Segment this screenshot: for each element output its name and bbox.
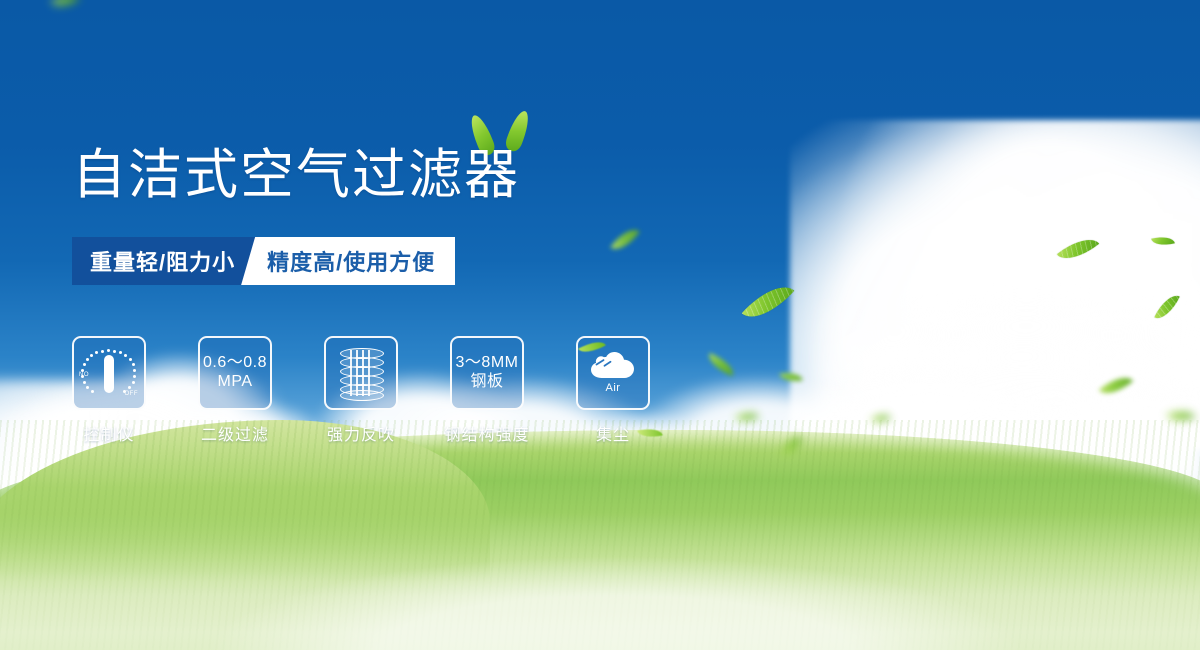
subtitle-bar: 重量轻/阻力小 精度高/使用方便 xyxy=(72,237,455,285)
feature-item[interactable]: 0.6～0.8 MPA 二级过滤 xyxy=(198,336,272,445)
air-label: Air xyxy=(606,382,621,394)
steel-plate-text-icon: 3～8MM 钢板 xyxy=(456,354,519,392)
gauge-needle-icon xyxy=(104,355,114,393)
feature-icon-box: NO OFF xyxy=(72,336,146,410)
product-hero-banner: 自洁式空气过滤器 重量轻/阻力小 精度高/使用方便 xyxy=(0,0,1200,650)
feature-icon-line1: 0.6～0.8 xyxy=(203,354,267,373)
pressure-text-icon: 0.6～0.8 MPA xyxy=(203,354,267,392)
feature-label: 强力反吹 xyxy=(327,421,395,445)
feature-label: 集尘 xyxy=(596,421,630,445)
feature-item[interactable]: Air 集尘 xyxy=(576,336,650,445)
feature-icon-box: 3～8MM 钢板 xyxy=(450,336,524,410)
cloud-shape-icon xyxy=(587,352,639,380)
feature-label: 钢结构强度 xyxy=(445,421,530,445)
feature-icon-line1: 3～8MM xyxy=(456,354,519,373)
coil-filter-icon xyxy=(340,347,382,399)
air-cloud-icon: Air xyxy=(585,350,641,396)
gauge-off-label: OFF xyxy=(125,391,139,397)
feature-item[interactable]: 3～8MM 钢板 钢结构强度 xyxy=(450,336,524,445)
feature-icon-box xyxy=(324,336,398,410)
gauge-icon: NO OFF xyxy=(80,347,138,399)
feature-icon-box: 0.6～0.8 MPA xyxy=(198,336,272,410)
feature-item[interactable]: 强力反吹 xyxy=(324,336,398,445)
subtitle-left-panel: 重量轻/阻力小 xyxy=(72,237,255,285)
feature-item[interactable]: NO OFF 控制仪 xyxy=(72,336,146,445)
feature-label: 控制仪 xyxy=(83,421,134,445)
subtitle-right-panel: 精度高/使用方便 xyxy=(241,237,455,285)
page-title: 自洁式空气过滤器 xyxy=(72,148,520,202)
gauge-no-label: NO xyxy=(79,372,89,378)
feature-label: 二级过滤 xyxy=(201,421,269,445)
feature-list: NO OFF 控制仪 0.6～0.8 MPA 二级过滤 xyxy=(72,336,650,445)
grass-field xyxy=(0,430,1200,650)
feature-icon-box: Air xyxy=(576,336,650,410)
feature-icon-line2: 钢板 xyxy=(456,373,519,392)
feature-icon-line2: MPA xyxy=(203,373,267,392)
